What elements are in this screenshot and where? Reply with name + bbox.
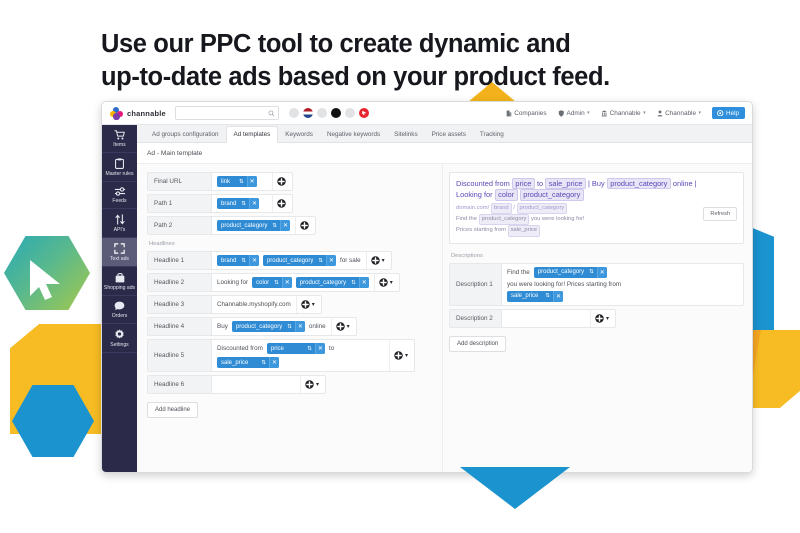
row-label-headline-5: Headline 5	[148, 340, 212, 371]
row-addon-headline-4[interactable]: ▾	[331, 318, 356, 335]
nav-item-admin[interactable]: Admin ▾	[558, 110, 590, 117]
sidebar: Items Master rules Feeds	[102, 125, 137, 472]
sidebar-item-master-rules[interactable]: Master rules	[102, 153, 137, 182]
pv-desc-find-the: Find the	[456, 216, 477, 222]
channable-logo-icon	[110, 107, 123, 120]
chevron-down-icon: ▾	[587, 110, 590, 116]
plus-icon[interactable]	[277, 177, 286, 186]
pv-text-to: to	[537, 179, 543, 188]
ad-preview: Discounted from price to sale_price | Bu…	[449, 172, 744, 244]
refresh-button[interactable]: Refresh	[703, 207, 737, 221]
token-label: product_category	[296, 277, 351, 288]
sidebar-item-shopping-ads[interactable]: Shopping ads	[102, 267, 137, 296]
bag-icon	[115, 272, 125, 283]
dot-red-alert[interactable]	[359, 108, 369, 118]
row-label-headline-4: Headline 4	[148, 318, 212, 335]
chevron-down-icon: ▾	[643, 110, 646, 116]
more-options-icon[interactable]: ▾	[312, 301, 315, 308]
row-fields-final-url: link ⇅ ✕	[212, 173, 272, 190]
token-brand[interactable]: brand ⇅ ✕	[217, 198, 259, 209]
nav-item-user[interactable]: Channable ▾	[657, 110, 701, 117]
ad-preview-description-2: Prices starting from sale_price	[456, 225, 699, 236]
sidebar-label-master-rules: Master rules	[103, 171, 136, 177]
brand-logo[interactable]: channable	[110, 107, 166, 120]
pv-chip-price: price	[512, 178, 535, 189]
token-product-category[interactable]: product_category ⇅ ✕	[296, 277, 369, 288]
sidebar-label-text-ads: Text ads	[103, 256, 136, 262]
pv-chip-product-category: product_category	[607, 178, 671, 189]
plus-icon[interactable]	[379, 278, 388, 287]
token-sale-price[interactable]: sale_price ⇅ ✕	[507, 291, 563, 302]
nav-label-company: Channable	[610, 110, 641, 117]
token-caret-icon: ⇅	[272, 220, 280, 231]
clipboard-icon	[115, 158, 124, 169]
plus-icon[interactable]	[277, 199, 286, 208]
row-headline-4: Headline 4 Buy product_category ⇅ ✕ onli…	[147, 317, 357, 336]
more-options-icon[interactable]: ▾	[316, 381, 319, 388]
row-fields-headline-3: Channable.myshopify.com	[212, 296, 296, 313]
headline-6-input[interactable]	[217, 379, 295, 390]
token-remove-icon[interactable]: ✕	[315, 343, 325, 354]
ad-preview-title: Discounted from price to sale_price | Bu…	[456, 178, 699, 201]
plus-icon[interactable]	[394, 351, 403, 360]
row-headline-3: Headline 3 Channable.myshopify.com ▾	[147, 295, 322, 314]
plus-icon[interactable]	[336, 322, 345, 331]
row-path-2: Path 2 product_category ⇅ ✕	[147, 216, 316, 235]
nav-label-companies: Companies	[514, 110, 546, 117]
nav-label-admin: Admin	[567, 110, 585, 117]
token-caret-icon: ⇅	[241, 255, 249, 266]
tab-negative-keywords[interactable]: Negative keywords	[320, 127, 387, 143]
add-headline-button[interactable]: Add headline	[147, 402, 198, 418]
token-link[interactable]: link ⇅ ✕	[217, 176, 257, 187]
row-label-headline-2: Headline 2	[148, 274, 212, 291]
row-label-headline-6: Headline 6	[148, 376, 212, 393]
row-description-1: Description 1 Find the product_category …	[449, 263, 744, 306]
decorative-blue-triangle	[460, 467, 570, 509]
pv-url-chip-brand: brand	[491, 203, 512, 214]
pv-chip-color: color	[495, 189, 518, 200]
gear-icon	[114, 329, 125, 340]
sidebar-label-items: Items	[103, 142, 136, 148]
add-description-button[interactable]: Add description	[449, 336, 506, 352]
row-label-description-2: Description 2	[450, 310, 502, 327]
plus-icon[interactable]	[305, 380, 314, 389]
row-fields-headline-5: Discounted from price ⇅ ✕ to sale_price …	[212, 340, 389, 371]
lifebuoy-icon	[717, 110, 724, 117]
token-remove-icon[interactable]: ✕	[269, 357, 279, 368]
text-online: online	[309, 323, 326, 330]
more-options-icon[interactable]: ▾	[405, 352, 408, 359]
headline-line-1: Use our PPC tool to create dynamic and	[101, 28, 701, 61]
row-fields-path-1: brand ⇅ ✕	[212, 195, 272, 212]
building-icon	[506, 110, 512, 117]
row-label-description-1: Description 1	[450, 264, 502, 305]
more-options-icon[interactable]: ▾	[390, 279, 393, 286]
row-final-url: Final URL link ⇅ ✕	[147, 172, 293, 191]
sidebar-label-settings: Settings	[103, 342, 136, 348]
row-label-path-2: Path 2	[148, 217, 212, 234]
page-title: Use our PPC tool to create dynamic and u…	[101, 28, 701, 94]
row-label-headline-1: Headline 1	[148, 252, 212, 269]
tab-ad-templates[interactable]: Ad templates	[226, 126, 279, 144]
cart-icon	[114, 130, 125, 140]
dot-gray-3[interactable]	[345, 108, 355, 118]
pv-desc2-chip-sale-price: sale_price	[508, 225, 540, 236]
row-fields-description-2	[502, 310, 590, 327]
pv-text-buy: | Buy	[588, 179, 605, 188]
token-caret-icon: ⇅	[287, 321, 295, 332]
token-remove-icon[interactable]: ✕	[249, 198, 259, 209]
dot-flag-nl[interactable]	[303, 108, 313, 118]
sidebar-item-items[interactable]: Items	[102, 125, 137, 153]
text-discounted-from: Discounted from	[217, 345, 263, 352]
row-path-1: Path 1 brand ⇅ ✕	[147, 194, 293, 213]
more-options-icon[interactable]: ▾	[347, 323, 350, 330]
tab-keywords[interactable]: Keywords	[278, 127, 320, 143]
token-label: product_category	[232, 321, 287, 332]
token-label: color	[252, 277, 274, 288]
search-icon	[268, 110, 275, 117]
token-label: sale_price	[217, 357, 261, 368]
row-label-path-1: Path 1	[148, 195, 212, 212]
token-remove-icon[interactable]: ✕	[280, 220, 290, 231]
arrows-updown-icon	[115, 214, 125, 225]
token-label: price	[267, 343, 307, 354]
help-label: Help	[726, 110, 739, 117]
pv-url-chip-product-category: product_category	[517, 203, 568, 214]
row-headline-6: Headline 6 ▾	[147, 375, 326, 394]
template-column: Final URL link ⇅ ✕	[137, 164, 442, 472]
token-product-category[interactable]: product_category ⇅ ✕	[534, 267, 607, 278]
row-addon-headline-1[interactable]: ▾	[366, 252, 391, 269]
row-headline-2: Headline 2 Looking for color ⇅ ✕ product…	[147, 273, 400, 292]
tab-ad-groups-configuration[interactable]: Ad groups configuration	[145, 127, 226, 143]
sidebar-item-text-ads[interactable]: Text ads	[102, 238, 137, 267]
token-caret-icon: ⇅	[318, 255, 326, 266]
pv-chip-product-category-2: product_category	[520, 189, 584, 200]
more-options-icon[interactable]: ▾	[606, 315, 609, 322]
row-fields-headline-2: Looking for color ⇅ ✕ product_category ⇅…	[212, 274, 374, 291]
row-headline-1: Headline 1 brand ⇅ ✕ product_category ⇅ …	[147, 251, 392, 270]
chevron-down-icon: ▾	[699, 110, 702, 116]
row-addon-description-2[interactable]: ▾	[590, 310, 615, 327]
token-label: brand	[217, 255, 241, 266]
sidebar-item-settings[interactable]: Settings	[102, 324, 137, 353]
plus-icon[interactable]	[300, 221, 309, 230]
dot-gray-1[interactable]	[289, 108, 299, 118]
token-caret-icon: ⇅	[261, 357, 269, 368]
panel-title: Ad - Main template	[137, 143, 752, 164]
status-dot-group	[289, 108, 369, 118]
more-options-icon[interactable]: ▾	[382, 257, 385, 264]
sidebar-label-shopping-ads: Shopping ads	[103, 285, 136, 291]
preview-column: Discounted from price to sale_price | Bu…	[442, 164, 752, 472]
chat-icon	[114, 301, 125, 311]
token-label: product_category	[534, 267, 589, 278]
token-product-category[interactable]: product_category ⇅ ✕	[217, 220, 290, 231]
token-caret-icon: ⇅	[241, 198, 249, 209]
row-label-headline-3: Headline 3	[148, 296, 212, 313]
description-2-input[interactable]	[507, 313, 585, 324]
dot-gray-2[interactable]	[317, 108, 327, 118]
row-addon-headline-3[interactable]: ▾	[296, 296, 321, 313]
plus-icon[interactable]	[371, 256, 380, 265]
sliders-icon	[114, 187, 126, 196]
ad-preview-text: Discounted from price to sale_price | Bu…	[456, 178, 703, 237]
nav-item-company[interactable]: Channable ▾	[601, 110, 646, 117]
pv-url-domain: domain.com/	[456, 205, 489, 211]
ad-preview-description-1: Find the product_category you were looki…	[456, 214, 699, 225]
pv-text-discounted-from: Discounted from	[456, 179, 510, 188]
main-content: Ad groups configuration Ad templates Key…	[137, 125, 752, 472]
sidebar-item-feeds[interactable]: Feeds	[102, 182, 137, 209]
plus-icon[interactable]	[301, 300, 310, 309]
token-remove-icon[interactable]: ✕	[597, 267, 607, 278]
token-caret-icon: ⇅	[274, 277, 282, 288]
row-fields-path-2: product_category ⇅ ✕	[212, 217, 295, 234]
help-button[interactable]: Help	[712, 107, 745, 119]
text-find-the: Find the	[507, 269, 530, 276]
token-caret-icon: ⇅	[239, 176, 247, 187]
text-for-sale: for sale	[340, 257, 361, 264]
row-addon-path-1[interactable]	[272, 195, 292, 212]
row-headline-5: Headline 5 Discounted from price ⇅ ✕ to …	[147, 339, 415, 372]
token-caret-icon: ⇅	[351, 277, 359, 288]
app-window: channable Companies	[101, 101, 753, 473]
tab-tracking[interactable]: Tracking	[473, 127, 511, 143]
token-color[interactable]: color ⇅ ✕	[252, 277, 292, 288]
token-brand[interactable]: brand ⇅ ✕	[217, 255, 259, 266]
tab-price-assets[interactable]: Price assets	[425, 127, 473, 143]
token-sale-price[interactable]: sale_price ⇅ ✕	[217, 357, 279, 368]
tab-bar: Ad groups configuration Ad templates Key…	[137, 125, 752, 143]
row-fields-headline-1: brand ⇅ ✕ product_category ⇅ ✕ for sale	[212, 252, 366, 269]
text-to: to	[329, 345, 334, 352]
token-remove-icon[interactable]: ✕	[326, 255, 336, 266]
app-topbar: channable Companies	[102, 102, 752, 125]
pv-desc2-prices-from: Prices starting from	[456, 227, 506, 233]
token-label: product_category	[263, 255, 318, 266]
headline-line-2: up-to-date ads based on your product fee…	[101, 61, 701, 94]
token-label: brand	[217, 198, 241, 209]
token-label: sale_price	[507, 291, 545, 302]
token-caret-icon: ⇅	[545, 291, 553, 302]
expand-icon	[114, 243, 125, 254]
brand-name: channable	[127, 109, 166, 118]
token-product-category[interactable]: product_category ⇅ ✕	[232, 321, 305, 332]
token-product-category[interactable]: product_category ⇅ ✕	[263, 255, 336, 266]
section-label-headlines: Headlines	[149, 241, 442, 247]
pv-chip-sale-price: sale_price	[545, 178, 586, 189]
sidebar-label-apis: API's	[103, 227, 136, 233]
nav-label-user: Channable	[665, 110, 696, 117]
shield-icon	[558, 110, 565, 117]
token-remove-icon[interactable]: ✕	[282, 277, 292, 288]
sidebar-item-apis[interactable]: API's	[102, 209, 137, 238]
pv-desc-chip-product-category: product_category	[479, 214, 530, 225]
nav-item-companies[interactable]: Companies	[506, 110, 547, 117]
user-icon	[657, 110, 663, 117]
top-navigation: Companies Admin ▾ Channable ▾	[506, 107, 745, 119]
token-price[interactable]: price ⇅ ✕	[267, 343, 325, 354]
token-caret-icon: ⇅	[589, 267, 597, 278]
pv-url-slash: /	[513, 205, 515, 211]
token-label: product_category	[217, 220, 272, 231]
sidebar-label-orders: Orders	[103, 313, 136, 319]
sidebar-label-feeds: Feeds	[103, 198, 136, 204]
bank-icon	[601, 110, 608, 117]
search-input[interactable]	[175, 106, 279, 120]
row-fields-headline-6	[212, 376, 300, 393]
token-remove-icon[interactable]: ✕	[553, 291, 563, 302]
sidebar-item-orders[interactable]: Orders	[102, 296, 137, 324]
row-addon-headline-2[interactable]: ▾	[374, 274, 399, 291]
token-caret-icon: ⇅	[307, 343, 315, 354]
token-remove-icon[interactable]: ✕	[247, 176, 257, 187]
cursor-arrow-icon	[27, 258, 67, 302]
section-label-descriptions: Descriptions	[451, 253, 744, 259]
row-addon-headline-5[interactable]: ▾	[389, 340, 414, 371]
ad-preview-url: domain.com/ brand / product_category	[456, 203, 699, 214]
pv-desc-looking-for: you were looking for!	[531, 216, 585, 222]
row-addon-headline-6[interactable]: ▾	[300, 376, 325, 393]
text-looking-for: Looking for	[217, 279, 248, 286]
row-fields-description-1: Find the product_category ⇅ ✕ you were l…	[502, 264, 743, 305]
plus-icon[interactable]	[595, 314, 604, 323]
token-remove-icon[interactable]: ✕	[359, 277, 369, 288]
tab-sitelinks[interactable]: Sitelinks	[387, 127, 424, 143]
row-label-final-url: Final URL	[148, 173, 212, 190]
row-addon-path-2[interactable]	[295, 217, 315, 234]
row-fields-headline-4: Buy product_category ⇅ ✕ online	[212, 318, 331, 335]
text-looking-for-prices: you were looking for! Prices starting fr…	[507, 281, 738, 288]
row-description-2: Description 2 ▾	[449, 309, 616, 328]
token-remove-icon[interactable]: ✕	[295, 321, 305, 332]
row-addon-final-url[interactable]	[272, 173, 292, 190]
dot-black[interactable]	[331, 108, 341, 118]
token-remove-icon[interactable]: ✕	[249, 255, 259, 266]
text-shop-domain: Channable.myshopify.com	[217, 301, 291, 308]
text-buy: Buy	[217, 323, 228, 330]
token-label: link	[217, 176, 239, 187]
